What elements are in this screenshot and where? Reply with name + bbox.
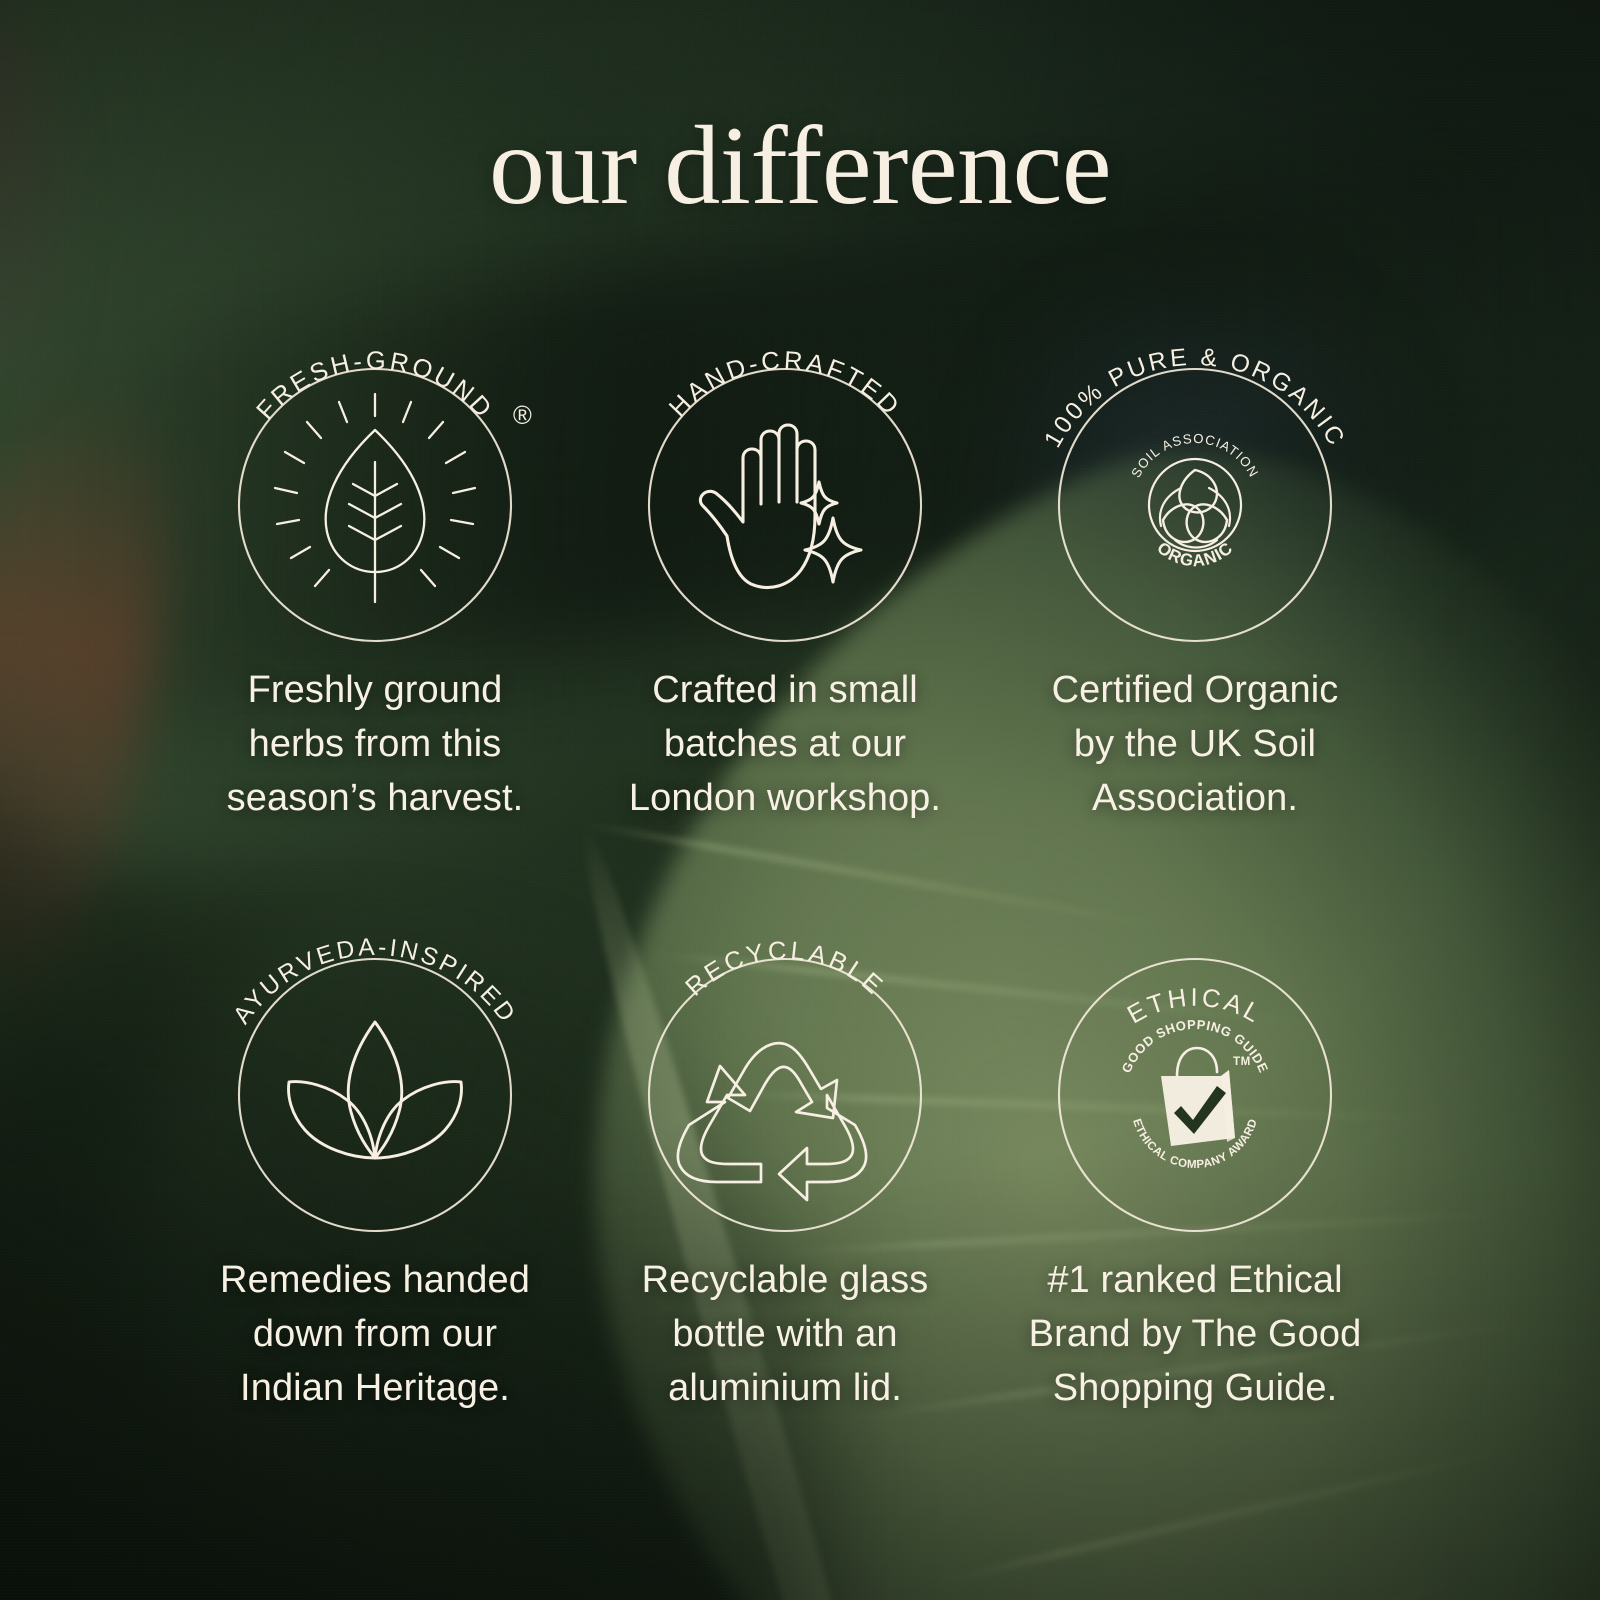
lotus-three-petal-icon (289, 1022, 462, 1158)
feature-caption-ethical: #1 ranked Ethical Brand by The Good Shop… (985, 1254, 1405, 1416)
badge-recyclable: RECYCLABLE (575, 880, 995, 1240)
feature-caption-ayurveda-inspired: Remedies handed down from our Indian Her… (165, 1254, 585, 1416)
feature-caption-hand-crafted: Crafted in small batches at our London w… (575, 664, 995, 826)
badge-pure-organic: 100% PURE & ORGANIC (985, 290, 1405, 650)
badge-arc-label-ayurveda-inspired: AYURVEDA-INSPIRED (228, 934, 521, 1029)
recycling-arrows-icon (678, 1043, 866, 1200)
open-hand-with-sparkles-icon (700, 425, 861, 588)
soil-association-organic-logo: SOIL ASSOCIATION ORGANIC (1128, 431, 1262, 571)
feature-card-hand-crafted: HAND-CRAFTED Crafted in small batches at… (575, 290, 995, 826)
registered-trademark-icon: ® (513, 402, 535, 430)
badge-arc-label-recyclable: RECYCLABLE (680, 937, 889, 1002)
feature-caption-recyclable: Recyclable glass bottle with an aluminiu… (575, 1254, 995, 1416)
badge-arc-label-hand-crafted: HAND-CRAFTED (664, 347, 906, 423)
badge-ayurveda-inspired: AYURVEDA-INSPIRED (165, 880, 585, 1240)
trademark-icon: TM (1233, 1055, 1251, 1068)
soil-association-top-arc: SOIL ASSOCIATION (1128, 431, 1262, 480)
feature-card-pure-organic: 100% PURE & ORGANIC (985, 290, 1405, 826)
feature-caption-fresh-ground: Freshly ground herbs from this season’s … (165, 664, 585, 826)
badge-ring (649, 959, 921, 1231)
feature-card-fresh-ground: FRESH-GROUND ® (165, 290, 585, 826)
feature-grid: FRESH-GROUND ® (0, 0, 1600, 1600)
soil-association-organic-word: ORGANIC (1153, 538, 1236, 570)
feature-card-ethical: ETHICAL GOOD SHOPPING GUIDE (985, 880, 1405, 1416)
feature-card-ayurveda-inspired: AYURVEDA-INSPIRED Remedies handed down f… (165, 880, 585, 1416)
badge-ethical: ETHICAL GOOD SHOPPING GUIDE (985, 880, 1405, 1240)
our-difference-panel: our difference FRESH-GROUND ® (0, 0, 1600, 1600)
feature-caption-pure-organic: Certified Organic by the UK Soil Associa… (985, 664, 1405, 826)
badge-ring (239, 959, 511, 1231)
badge-fresh-ground: FRESH-GROUND ® (165, 290, 585, 650)
good-shopping-guide-award-logo: GOOD SHOPPING GUIDE ETHICAL COMPANY AWAR… (1119, 1017, 1272, 1171)
leaf-with-rays-icon (275, 394, 475, 602)
badge-hand-crafted: HAND-CRAFTED (575, 290, 995, 650)
feature-card-recyclable: RECYCLABLE Recyclable glass bottle with … (575, 880, 995, 1416)
badge-ring (1059, 369, 1331, 641)
